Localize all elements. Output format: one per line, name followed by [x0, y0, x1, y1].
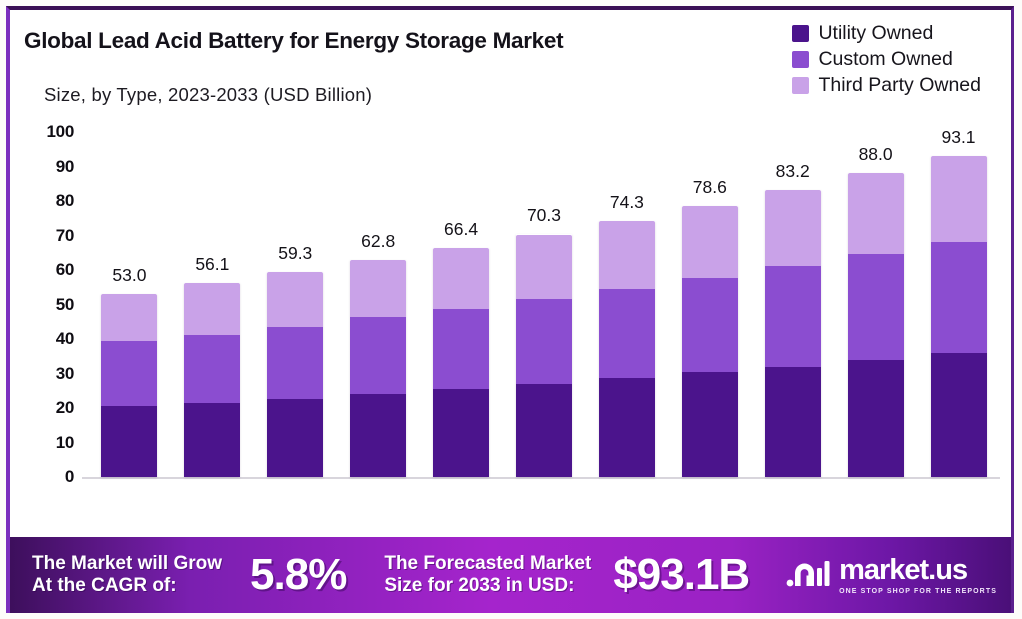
forecast-value: $93.1B — [613, 550, 749, 600]
bar-value-label: 74.3 — [610, 192, 644, 213]
legend-item[interactable]: Custom Owned — [792, 48, 981, 71]
bar-segment[interactable] — [848, 360, 904, 477]
bar-segment[interactable] — [350, 260, 406, 317]
brand-logo[interactable]: market.us ONE STOP SHOP FOR THE REPORTS — [786, 556, 997, 595]
stacked-bar[interactable] — [848, 173, 904, 477]
bar-segment[interactable] — [931, 353, 987, 477]
y-axis: 0102030405060708090100 — [10, 118, 82, 528]
y-axis-tick-label: 90 — [56, 157, 74, 177]
bar-column[interactable]: 78.6 — [668, 206, 751, 477]
legend-swatch-icon — [792, 51, 809, 68]
y-axis-tick-label: 50 — [56, 295, 74, 315]
bar-segment[interactable] — [682, 206, 738, 278]
cagr-label: The Market will Grow At the CAGR of: — [32, 553, 222, 597]
legend-item[interactable]: Third Party Owned — [792, 74, 981, 97]
bar-segment[interactable] — [599, 221, 655, 289]
stacked-bar[interactable] — [765, 190, 821, 477]
bar-segment[interactable] — [516, 235, 572, 300]
bar-segment[interactable] — [682, 372, 738, 477]
footer-banner: The Market will Grow At the CAGR of: 5.8… — [10, 537, 1011, 613]
cagr-label-line2: At the CAGR of: — [32, 575, 222, 597]
y-axis-tick-label: 60 — [56, 260, 74, 280]
bar-segment[interactable] — [931, 156, 987, 243]
stacked-bar[interactable] — [350, 260, 406, 477]
legend-label: Custom Owned — [818, 48, 952, 71]
bar-column[interactable]: 88.0 — [834, 173, 917, 477]
bar-segment[interactable] — [267, 272, 323, 327]
bar-value-label: 88.0 — [859, 144, 893, 165]
bar-segment[interactable] — [848, 254, 904, 360]
stacked-bar[interactable] — [267, 272, 323, 477]
y-axis-tick-label: 70 — [56, 226, 74, 246]
bar-group: 53.056.159.362.866.470.374.378.683.288.0… — [88, 118, 1000, 477]
stacked-bar[interactable] — [433, 248, 489, 477]
bar-segment[interactable] — [599, 289, 655, 378]
legend-item[interactable]: Utility Owned — [792, 22, 981, 45]
forecast-label-line2: Size for 2033 in USD: — [384, 575, 591, 597]
stacked-bar[interactable] — [682, 206, 738, 477]
bar-segment[interactable] — [599, 378, 655, 477]
bar-value-label: 59.3 — [278, 243, 312, 264]
bar-column[interactable]: 66.4 — [420, 248, 503, 477]
chart-legend: Utility OwnedCustom OwnedThird Party Own… — [792, 22, 981, 97]
bar-column[interactable]: 70.3 — [503, 234, 586, 477]
legend-swatch-icon — [792, 25, 809, 42]
chart-subtitle: Size, by Type, 2023-2033 (USD Billion) — [44, 84, 372, 106]
forecast-label-line1: The Forecasted Market — [384, 553, 591, 575]
bar-segment[interactable] — [931, 242, 987, 352]
market-us-logo-icon — [786, 556, 830, 595]
y-axis-tick-label: 100 — [47, 122, 74, 142]
bar-segment[interactable] — [516, 384, 572, 477]
bar-segment[interactable] — [765, 266, 821, 366]
y-axis-tick-label: 80 — [56, 191, 74, 211]
page-title: Global Lead Acid Battery for Energy Stor… — [24, 28, 563, 54]
logo-name: market.us — [839, 556, 997, 585]
bar-segment[interactable] — [184, 335, 240, 403]
bar-value-label: 66.4 — [444, 219, 478, 240]
bar-value-label: 78.6 — [693, 177, 727, 198]
bar-segment[interactable] — [516, 299, 572, 384]
stacked-bar[interactable] — [599, 221, 655, 477]
bar-segment[interactable] — [433, 248, 489, 309]
legend-label: Utility Owned — [818, 22, 933, 45]
bar-segment[interactable] — [765, 190, 821, 266]
forecast-label: The Forecasted Market Size for 2033 in U… — [384, 553, 591, 597]
bar-value-label: 93.1 — [941, 127, 975, 148]
stacked-bar[interactable] — [101, 294, 157, 477]
bar-segment[interactable] — [101, 406, 157, 477]
bar-segment[interactable] — [433, 309, 489, 389]
bars-container: 53.056.159.362.866.470.374.378.683.288.0… — [88, 118, 1000, 528]
x-axis-baseline — [82, 477, 1000, 479]
bar-segment[interactable] — [267, 327, 323, 399]
legend-label: Third Party Owned — [818, 74, 981, 97]
bar-column[interactable]: 74.3 — [585, 221, 668, 477]
bar-segment[interactable] — [184, 283, 240, 334]
bar-column[interactable]: 83.2 — [751, 190, 834, 477]
stacked-bar[interactable] — [184, 283, 240, 477]
bar-segment[interactable] — [101, 294, 157, 341]
bar-segment[interactable] — [848, 173, 904, 254]
infographic-root: Global Lead Acid Battery for Energy Stor… — [0, 0, 1022, 619]
bar-column[interactable]: 53.0 — [88, 294, 171, 477]
chart-frame: Global Lead Acid Battery for Energy Stor… — [6, 6, 1014, 613]
bar-column[interactable]: 59.3 — [254, 272, 337, 477]
y-axis-tick-label: 10 — [56, 433, 74, 453]
bar-segment[interactable] — [765, 367, 821, 477]
bar-value-label: 53.0 — [112, 265, 146, 286]
stacked-bar[interactable] — [931, 156, 987, 477]
logo-text: market.us ONE STOP SHOP FOR THE REPORTS — [839, 556, 997, 595]
bar-segment[interactable] — [267, 399, 323, 477]
bar-segment[interactable] — [433, 389, 489, 477]
bar-segment[interactable] — [101, 341, 157, 407]
y-axis-tick-label: 0 — [65, 467, 74, 487]
y-axis-tick-label: 40 — [56, 329, 74, 349]
plot-area: 0102030405060708090100 53.056.159.362.86… — [10, 118, 1014, 528]
bar-segment[interactable] — [350, 394, 406, 477]
legend-swatch-icon — [792, 77, 809, 94]
cagr-value: 5.8% — [250, 550, 346, 600]
logo-tagline: ONE STOP SHOP FOR THE REPORTS — [839, 588, 997, 595]
bar-value-label: 83.2 — [776, 161, 810, 182]
bar-column[interactable]: 93.1 — [917, 156, 1000, 477]
bar-segment[interactable] — [682, 278, 738, 372]
bar-value-label: 62.8 — [361, 231, 395, 252]
bar-column[interactable]: 62.8 — [337, 260, 420, 477]
chart-header: Global Lead Acid Battery for Energy Stor… — [10, 10, 1011, 118]
y-axis-tick-label: 20 — [56, 398, 74, 418]
bar-segment[interactable] — [350, 317, 406, 394]
bar-segment[interactable] — [184, 403, 240, 477]
bar-column[interactable]: 56.1 — [171, 283, 254, 477]
stacked-bar[interactable] — [516, 234, 572, 477]
cagr-label-line1: The Market will Grow — [32, 553, 222, 575]
bar-value-label: 70.3 — [527, 205, 561, 226]
y-axis-tick-label: 30 — [56, 364, 74, 384]
bar-value-label: 56.1 — [195, 254, 229, 275]
